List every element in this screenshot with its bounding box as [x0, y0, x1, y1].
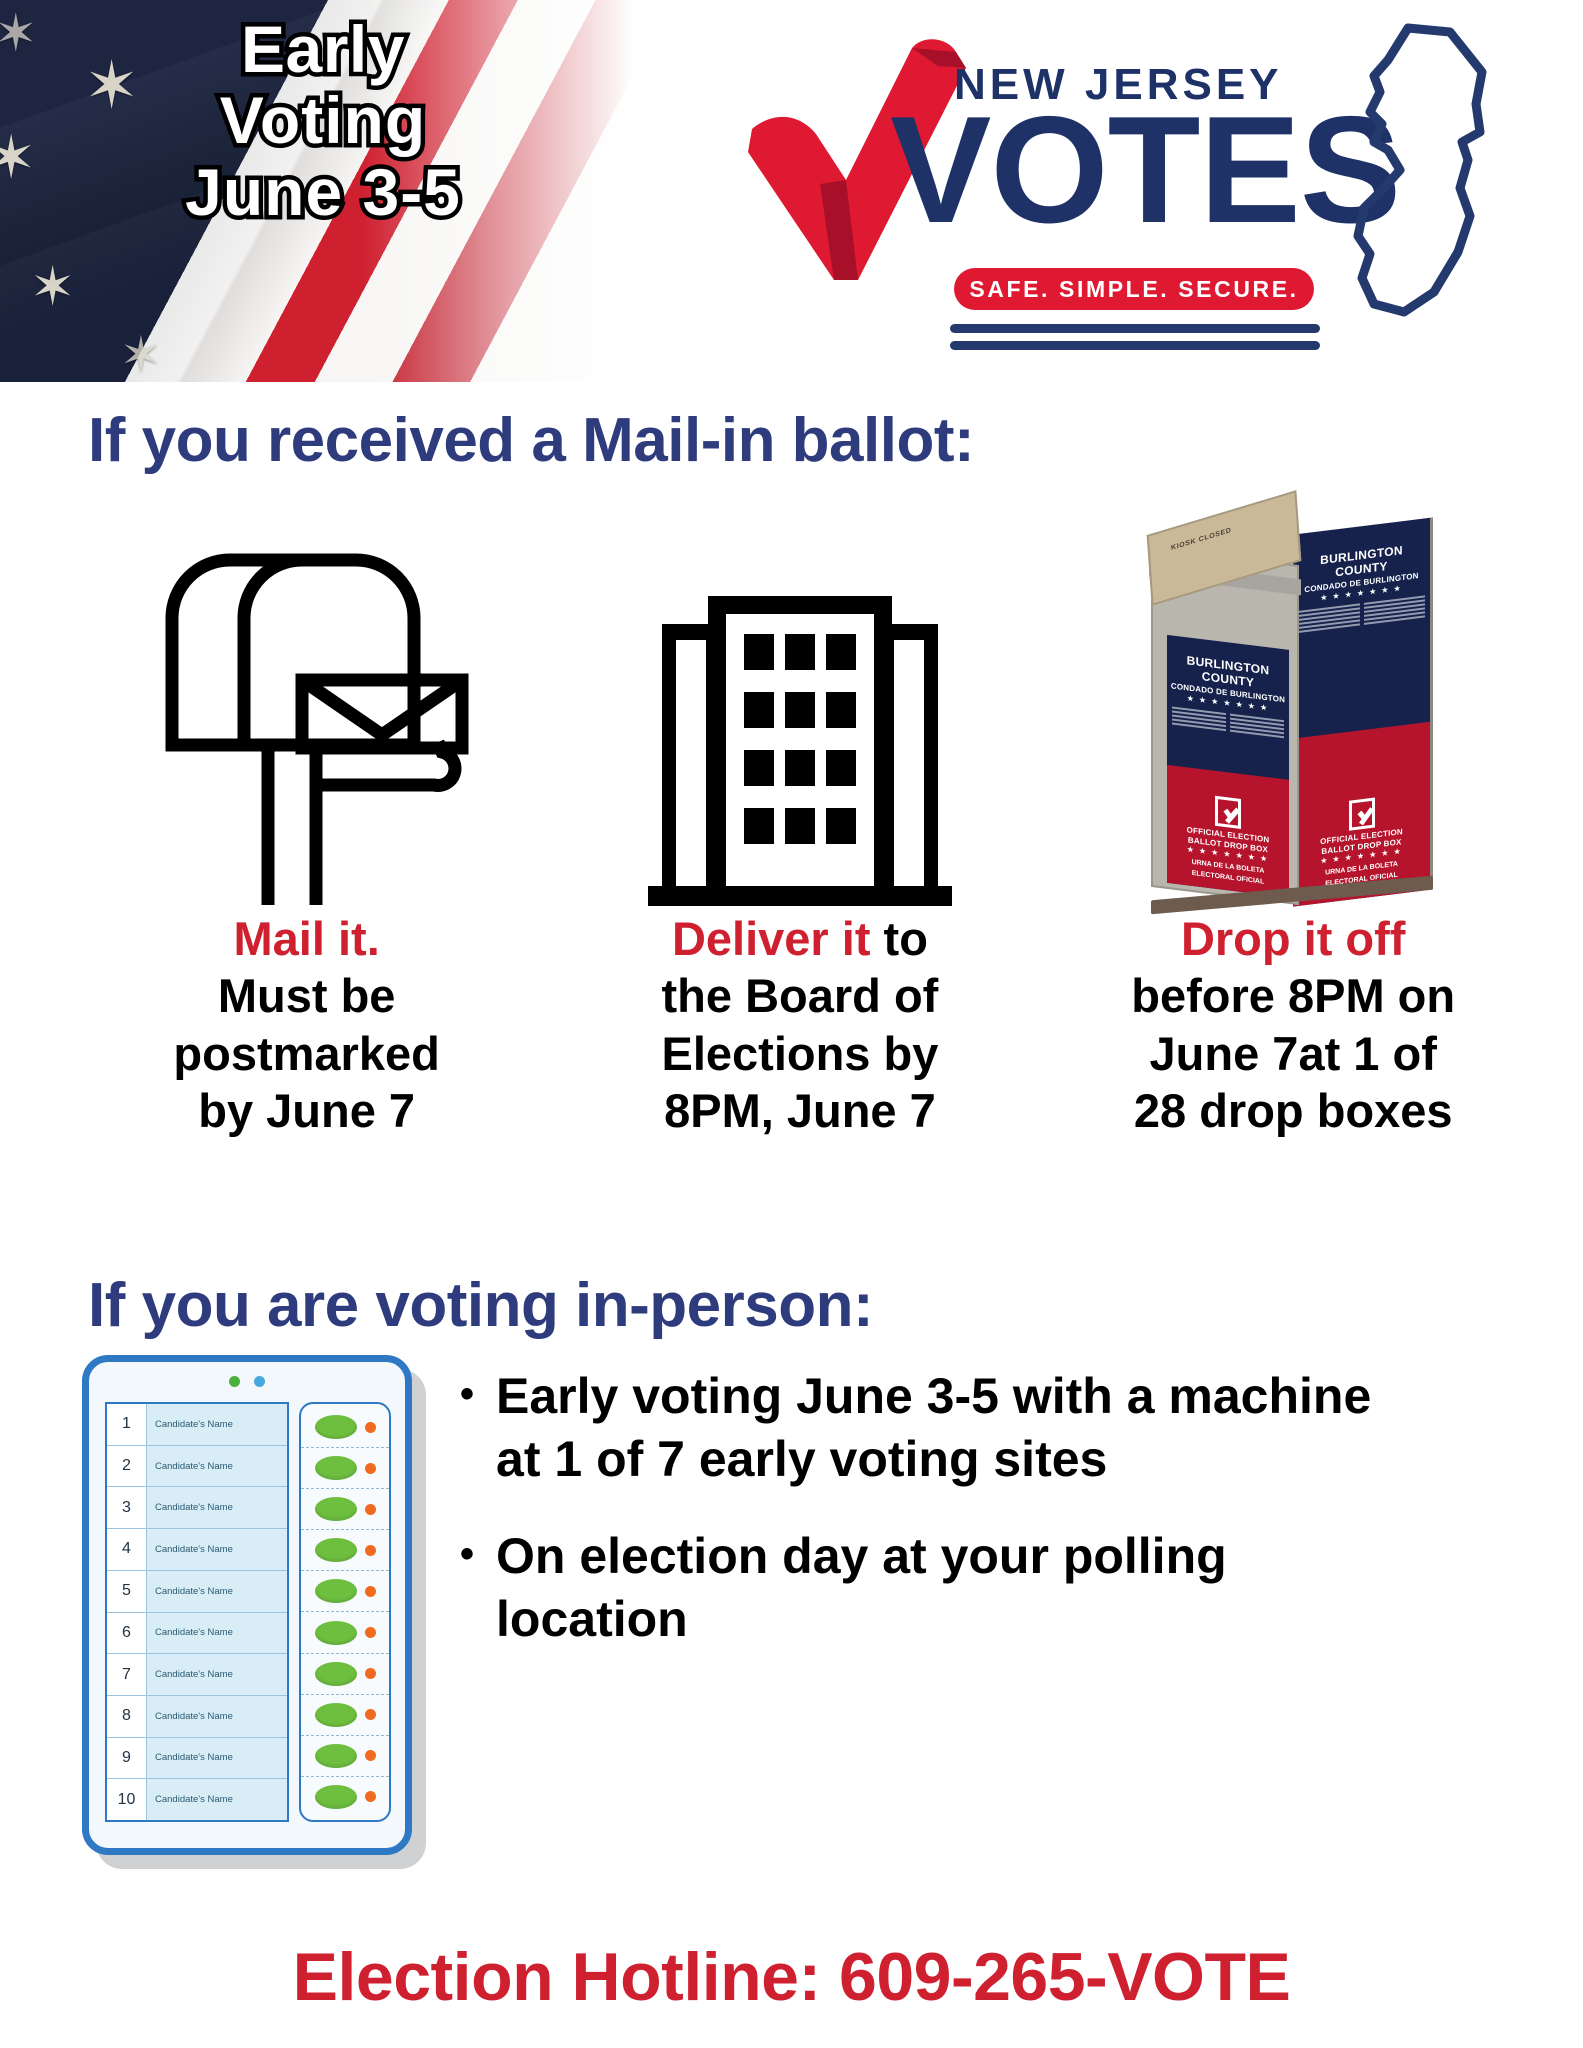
ballot-candidate-name: Candidate's Name [147, 1613, 287, 1654]
ballot-select-button[interactable] [301, 1530, 389, 1571]
ballot-row-number: 9 [107, 1738, 147, 1779]
option-lead-text: Deliver it [672, 912, 871, 965]
ballot-row: 9Candidate's Name [107, 1738, 287, 1780]
ballot-selected-indicator-icon [365, 1586, 376, 1597]
ballot-candidate-name: Candidate's Name [147, 1738, 287, 1779]
ballot-candidate-name: Candidate's Name [147, 1654, 287, 1695]
ballot-selected-indicator-icon [365, 1504, 376, 1515]
in-person-section: 1Candidate's Name2Candidate's Name3Candi… [60, 1355, 1540, 1895]
ballot-select-button[interactable] [301, 1777, 389, 1817]
ballot-candidate-name: Candidate's Name [147, 1404, 287, 1445]
option-lead-text: Drop it off [1181, 912, 1406, 965]
ballot-row: 6Candidate's Name [107, 1613, 287, 1655]
option-body-line: 28 drop boxes [1053, 1082, 1534, 1139]
drop-box-front: BURLINGTON COUNTY CONDADO DE BURLINGTON … [1151, 547, 1299, 905]
ballot-selected-indicator-icon [365, 1750, 376, 1761]
ballot-select-oval[interactable] [315, 1744, 357, 1768]
ballot-row: 4Candidate's Name [107, 1529, 287, 1571]
ballot-row-number: 5 [107, 1571, 147, 1612]
ballot-select-button[interactable] [301, 1571, 389, 1612]
machine-led-blue-icon [254, 1376, 265, 1387]
ballot-candidate-list: 1Candidate's Name2Candidate's Name3Candi… [105, 1402, 289, 1822]
option-body-line: Must be [66, 967, 547, 1024]
ballot-row: 3Candidate's Name [107, 1487, 287, 1529]
option-caption: Deliver it to the Board of Elections by … [553, 910, 1046, 1139]
voting-machine-column: 1Candidate's Name2Candidate's Name3Candi… [60, 1355, 460, 1895]
option-body-line: June 7at 1 of [1053, 1025, 1534, 1082]
page-title: Early Voting June 3-5 [88, 14, 558, 228]
ballot-selected-indicator-icon [365, 1668, 376, 1679]
mail-in-options: Mail it. Must be postmarked by June 7 [60, 495, 1540, 1225]
ballot-select-button[interactable] [301, 1736, 389, 1777]
bullet-marker-icon: • [460, 1365, 474, 1423]
option-deliver-it: Deliver it to the Board of Elections by … [553, 495, 1046, 1225]
new-jersey-state-outline-icon [1330, 20, 1500, 320]
drop-box-side-panel: BURLINGTON COUNTY CONDADO DE BURLINGTON … [1293, 517, 1433, 906]
option-mail-it: Mail it. Must be postmarked by June 7 [60, 495, 553, 1225]
election-hotline: Election Hotline: 609-265-VOTE [0, 1938, 1583, 2016]
ballot-row-number: 2 [107, 1446, 147, 1487]
option-body-line: the Board of [559, 967, 1040, 1024]
ballot-row-number: 7 [107, 1654, 147, 1695]
list-item: • Early voting June 3-5 with a machine a… [460, 1365, 1540, 1491]
ballot-candidate-name: Candidate's Name [147, 1529, 287, 1570]
list-item: • On election day at your polling locati… [460, 1525, 1540, 1651]
ballot-row: 10Candidate's Name [107, 1779, 287, 1820]
ballot-select-button[interactable] [301, 1489, 389, 1530]
ballot-drop-box-icon: BURLINGTON COUNTY CONDADO DE BURLINGTON … [1143, 510, 1443, 910]
machine-indicator-lights [89, 1376, 405, 1387]
mail-in-section-heading: If you received a Mail-in ballot: [88, 405, 974, 476]
ballot-select-oval[interactable] [315, 1456, 357, 1480]
drop-box-checkmark-icon [1215, 796, 1241, 829]
ballot-select-button[interactable] [301, 1612, 389, 1653]
ballot-selected-indicator-icon [365, 1627, 376, 1638]
logo-rule [950, 341, 1320, 350]
page-title-line-1: Early [88, 14, 558, 85]
ballot-candidate-name: Candidate's Name [147, 1696, 287, 1737]
office-building-icon [640, 580, 960, 910]
ballot-row-number: 4 [107, 1529, 147, 1570]
option-caption: Drop it off before 8PM on June 7at 1 of … [1047, 910, 1540, 1139]
ballot-select-button[interactable] [301, 1654, 389, 1695]
page-title-line-2: Voting [88, 85, 558, 156]
ballot-select-oval[interactable] [315, 1785, 357, 1809]
ballot-selected-indicator-icon [365, 1791, 376, 1802]
mailbox-icon [142, 530, 472, 910]
ballot-select-oval[interactable] [315, 1579, 357, 1603]
ballot-candidate-name: Candidate's Name [147, 1779, 287, 1820]
ballot-selected-indicator-icon [365, 1463, 376, 1474]
ballot-select-button[interactable] [301, 1695, 389, 1736]
option-body-line: postmarked [66, 1025, 547, 1082]
ballot-row-number: 1 [107, 1404, 147, 1445]
option-artwork [60, 495, 553, 910]
machine-led-green-icon [229, 1376, 240, 1387]
drop-box-front-panel: BURLINGTON COUNTY CONDADO DE BURLINGTON … [1167, 635, 1289, 898]
ballot-selected-indicator-icon [365, 1709, 376, 1720]
list-item-text: On election day at your polling location [496, 1525, 1396, 1651]
ballot-row-number: 3 [107, 1487, 147, 1528]
ballot-row-number: 8 [107, 1696, 147, 1737]
option-body-line: before 8PM on [1053, 967, 1534, 1024]
in-person-bullets: • Early voting June 3-5 with a machine a… [460, 1355, 1540, 1895]
option-drop-it-off: BURLINGTON COUNTY CONDADO DE BURLINGTON … [1047, 495, 1540, 1225]
ballot-row: 8Candidate's Name [107, 1696, 287, 1738]
option-body-line: Elections by [559, 1025, 1040, 1082]
logo-rule [950, 324, 1320, 333]
option-lead-rest: to [870, 912, 927, 965]
ballot-select-oval[interactable] [315, 1621, 357, 1645]
logo-wordmark: VOTES [890, 94, 1400, 246]
ballot-selected-indicator-icon [365, 1545, 376, 1556]
option-caption: Mail it. Must be postmarked by June 7 [60, 910, 553, 1139]
option-body-line: 8PM, June 7 [559, 1082, 1040, 1139]
ballot-candidate-name: Candidate's Name [147, 1487, 287, 1528]
ballot-select-oval[interactable] [315, 1662, 357, 1686]
ballot-select-button[interactable] [301, 1407, 389, 1448]
ballot-select-oval[interactable] [315, 1415, 357, 1439]
logo-tagline: SAFE. SIMPLE. SECURE. [954, 268, 1314, 310]
ballot-row: 1Candidate's Name [107, 1404, 287, 1446]
ballot-candidate-name: Candidate's Name [147, 1571, 287, 1612]
ballot-row-number: 6 [107, 1613, 147, 1654]
machine-body: 1Candidate's Name2Candidate's Name3Candi… [105, 1402, 391, 1822]
ballot-candidate-name: Candidate's Name [147, 1446, 287, 1487]
ballot-row: 7Candidate's Name [107, 1654, 287, 1696]
list-item-text: Early voting June 3-5 with a machine at … [496, 1365, 1396, 1491]
ballot-row: 2Candidate's Name [107, 1446, 287, 1488]
option-artwork [553, 495, 1046, 910]
ballot-select-oval[interactable] [315, 1538, 357, 1562]
page-title-line-3: June 3-5 [88, 157, 558, 228]
option-lead-text: Mail it. [234, 912, 380, 965]
option-artwork: BURLINGTON COUNTY CONDADO DE BURLINGTON … [1047, 495, 1540, 910]
drop-box-checkmark-icon [1349, 798, 1375, 831]
ballot-row-number: 10 [107, 1779, 147, 1820]
nj-votes-logo: NEW JERSEY VOTES SAFE. SIMPLE. SECURE. [742, 16, 1322, 366]
ballot-select-button[interactable] [301, 1448, 389, 1489]
ballot-select-oval[interactable] [315, 1497, 357, 1521]
in-person-section-heading: If you are voting in-person: [88, 1270, 873, 1341]
poster-header: ✶ ✶ ✶ ✶ ✶ Early Voting June 3-5 NEW JERS… [0, 0, 1583, 382]
ballot-button-column [299, 1402, 391, 1822]
ballot-selected-indicator-icon [365, 1422, 376, 1433]
ballot-row: 5Candidate's Name [107, 1571, 287, 1613]
option-body-line: by June 7 [66, 1082, 547, 1139]
voting-machine-illustration: 1Candidate's Name2Candidate's Name3Candi… [82, 1355, 412, 1855]
bullet-marker-icon: • [460, 1525, 474, 1583]
ballot-select-oval[interactable] [315, 1703, 357, 1727]
